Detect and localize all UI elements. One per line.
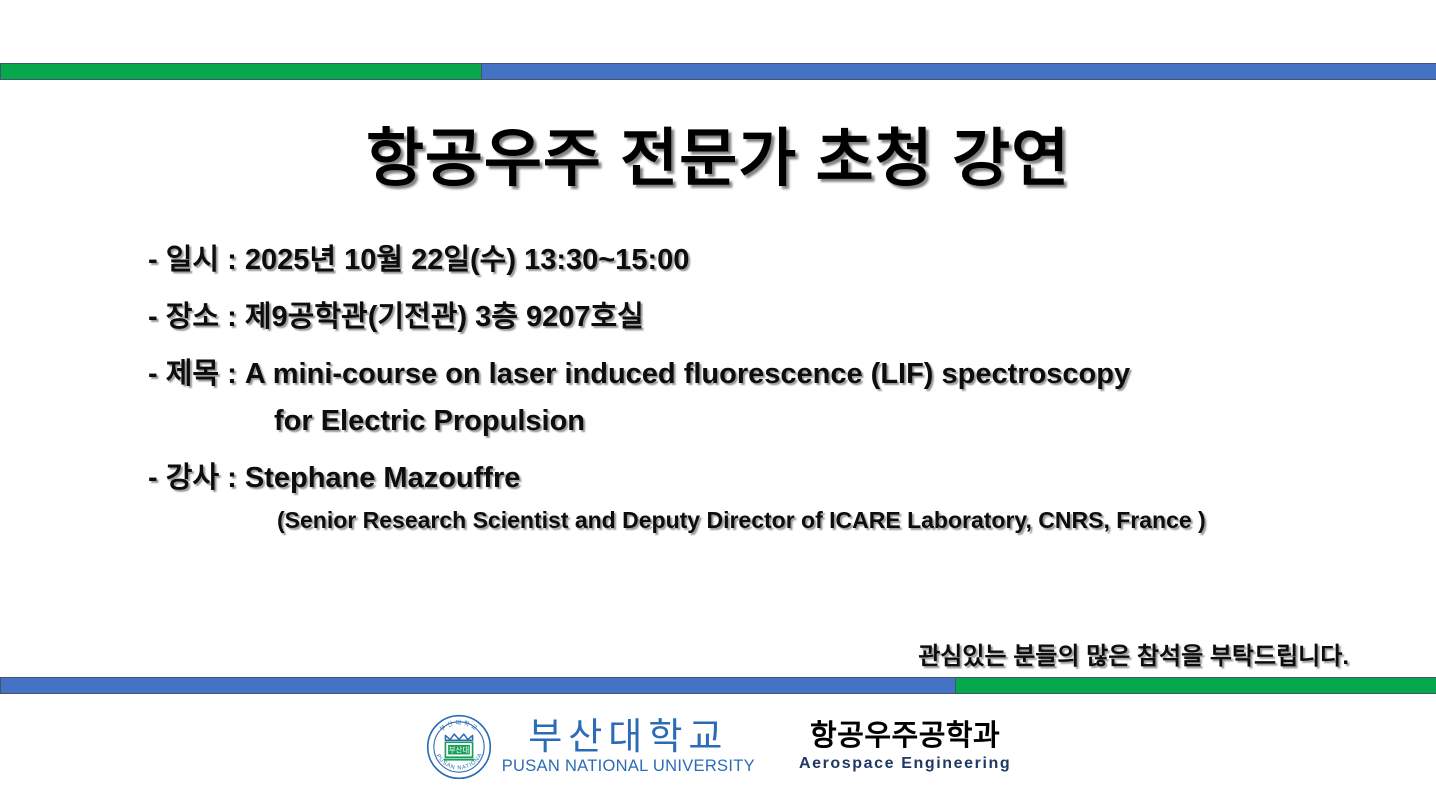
detail-line-venue: - 장소 : 제9공학관(기전관) 3층 9207호실 [148,303,1408,332]
university-name-korean: 부산대학교 [528,718,728,757]
detail-line-speaker-affiliation: (Senior Research Scientist and Deputy Di… [148,509,1408,532]
university-seal-icon: 부산대학교 PUSAN NATIONAL UNIVERSITY 부산대 [425,713,493,781]
page-title: 항공우주 전문가 초청 강연 [0,108,1436,199]
poster-slide: 항공우주 전문가 초청 강연 - 일시 : 2025년 10월 22일(수) 1… [0,0,1436,794]
pusan-national-university-logo: 부산대학교 PUSAN NATIONAL UNIVERSITY 부산대 부산대학… [425,713,755,781]
bottom-bar-blue-segment [0,677,956,694]
university-wordmark: 부산대학교 PUSAN NATIONAL UNIVERSITY [502,718,755,777]
detail-line-topic: - 제목 : A mini-course on laser induced fl… [148,360,1408,389]
top-bar-green-segment [0,63,482,80]
bottom-bar-green-segment [955,677,1436,694]
closing-note: 관심있는 분들의 많은 참석을 부탁드립니다. [0,636,1349,671]
lecture-details-list: - 일시 : 2025년 10월 22일(수) 13:30~15:00 - 장소… [148,246,1408,560]
department-wordmark: 항공우주공학과 Aerospace Engineering [799,721,1011,773]
detail-line-topic-continued: for Electric Propulsion [148,407,1408,436]
university-name-english: PUSAN NATIONAL UNIVERSITY [502,757,755,776]
footer-logos: 부산대학교 PUSAN NATIONAL UNIVERSITY 부산대 부산대학… [0,703,1436,791]
detail-line-datetime: - 일시 : 2025년 10월 22일(수) 13:30~15:00 [148,246,1408,275]
department-name-english: Aerospace Engineering [799,755,1011,773]
svg-text:부산대: 부산대 [448,745,469,755]
detail-line-speaker: - 강사 : Stephane Mazouffre [148,464,1408,493]
top-bar-blue-segment [481,63,1436,80]
department-name-korean: 항공우주공학과 [810,721,1000,753]
